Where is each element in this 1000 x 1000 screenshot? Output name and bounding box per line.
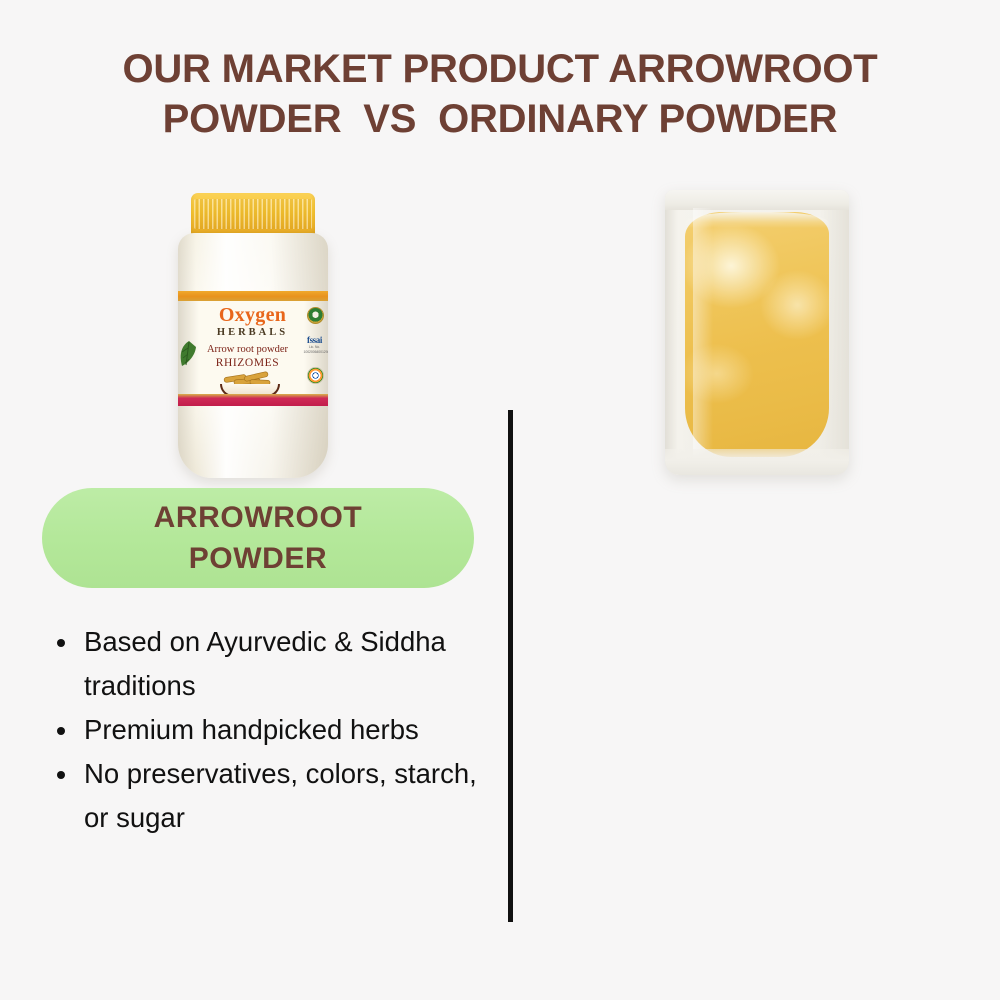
pouch-bottom-gusset [665, 449, 849, 475]
pouch-sheen [693, 208, 713, 458]
list-item: Premium handpicked herbs [52, 708, 477, 752]
label-top-band [178, 291, 328, 301]
left-column: Oxygen HERBALS Arrow root powder RHIZOME… [0, 0, 505, 1000]
arrowroot-pill-line-2: POWDER [154, 538, 363, 579]
list-item: Based on Ayurvedic & Siddha traditions [52, 620, 477, 708]
list-item: No preservatives, colors, starch, or sug… [52, 752, 477, 840]
jar-label: Oxygen HERBALS Arrow root powder RHIZOME… [178, 291, 328, 406]
green-seal-badge [307, 307, 324, 324]
product-jar: Oxygen HERBALS Arrow root powder RHIZOME… [173, 193, 333, 478]
pouch-top-seal [665, 190, 849, 210]
label-bottom-band [178, 394, 328, 406]
arrowroot-jar-image: Oxygen HERBALS Arrow root powder RHIZOME… [0, 185, 505, 485]
india-flag-badge [307, 367, 324, 384]
jar-brand: Oxygen HERBALS [178, 305, 328, 339]
arrowroot-pill-line-1: ARROWROOT [154, 497, 363, 538]
arrowroot-benefits-list: Based on Ayurvedic & Siddha traditions P… [52, 620, 477, 840]
fssai-license: Lic. No. 10020064001298 [304, 345, 326, 355]
label-kind: RHIZOMES [192, 356, 304, 370]
fssai-label: fssai [304, 335, 326, 345]
brand-name: Oxygen [178, 305, 328, 326]
fssai-badge: fssai Lic. No. 10020064001298 [304, 335, 326, 357]
product-pouch [665, 190, 849, 475]
ordinary-powder-pouch-image [513, 185, 1000, 485]
right-column: ORDINARY POWDER Mass-produced with no he… [513, 0, 1000, 1000]
comparison-infographic: OUR MARKET PRODUCT ARROWROOT POWDER VS O… [0, 0, 1000, 1000]
jar-cap [191, 193, 315, 238]
label-description: Arrow root powder [192, 343, 304, 356]
arrowroot-powder-pill-label: ARROWROOT POWDER [42, 488, 474, 588]
